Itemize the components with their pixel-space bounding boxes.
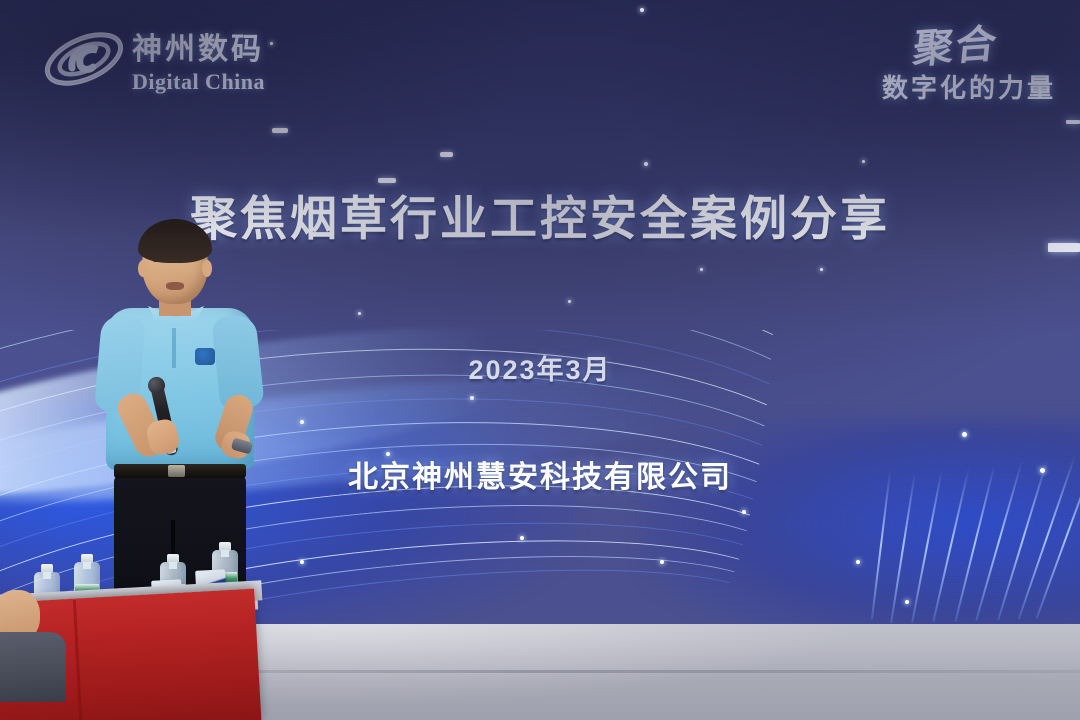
light-particle <box>640 8 644 12</box>
light-particle <box>742 510 746 514</box>
logo-english-text: Digital China <box>132 69 265 95</box>
light-particle <box>440 152 453 157</box>
seated-attendee <box>0 584 62 720</box>
light-particle <box>470 396 474 400</box>
speaker-ear <box>202 260 212 277</box>
light-particle <box>700 268 703 271</box>
light-particle <box>820 268 823 271</box>
speaker-ear <box>138 260 148 277</box>
digital-china-logo: 神州数码 Digital China <box>42 22 312 100</box>
light-particle <box>272 128 288 133</box>
light-particle <box>520 536 524 540</box>
light-particle <box>568 300 571 303</box>
polo-placket <box>172 328 176 368</box>
belt-buckle <box>168 465 185 477</box>
light-particle <box>862 160 865 163</box>
light-particle <box>660 560 664 564</box>
logo-chinese-text: 神州数码 <box>132 24 265 68</box>
light-particle <box>358 312 361 315</box>
light-particle <box>905 600 909 604</box>
event-calligraphy: 聚合 <box>911 11 1002 75</box>
speaker-mouth <box>166 282 184 290</box>
event-subtitle: 数字化的力量 <box>806 68 1056 105</box>
spiral-galaxy-icon <box>42 26 126 92</box>
screen-light-bar <box>1066 120 1080 124</box>
light-particle <box>300 420 304 424</box>
speaker-hair <box>138 219 212 263</box>
stage-photo: 神州数码 Digital China 聚合 数字化的力量 聚焦烟草行业工控安全案… <box>0 0 1080 720</box>
attendee-body <box>0 632 66 702</box>
event-mark: 聚合 数字化的力量 <box>806 14 1056 114</box>
light-particle <box>644 162 648 166</box>
shirt-chest-logo <box>195 348 215 365</box>
light-particle <box>962 432 967 437</box>
light-particle <box>300 560 304 564</box>
light-particle <box>856 560 860 564</box>
